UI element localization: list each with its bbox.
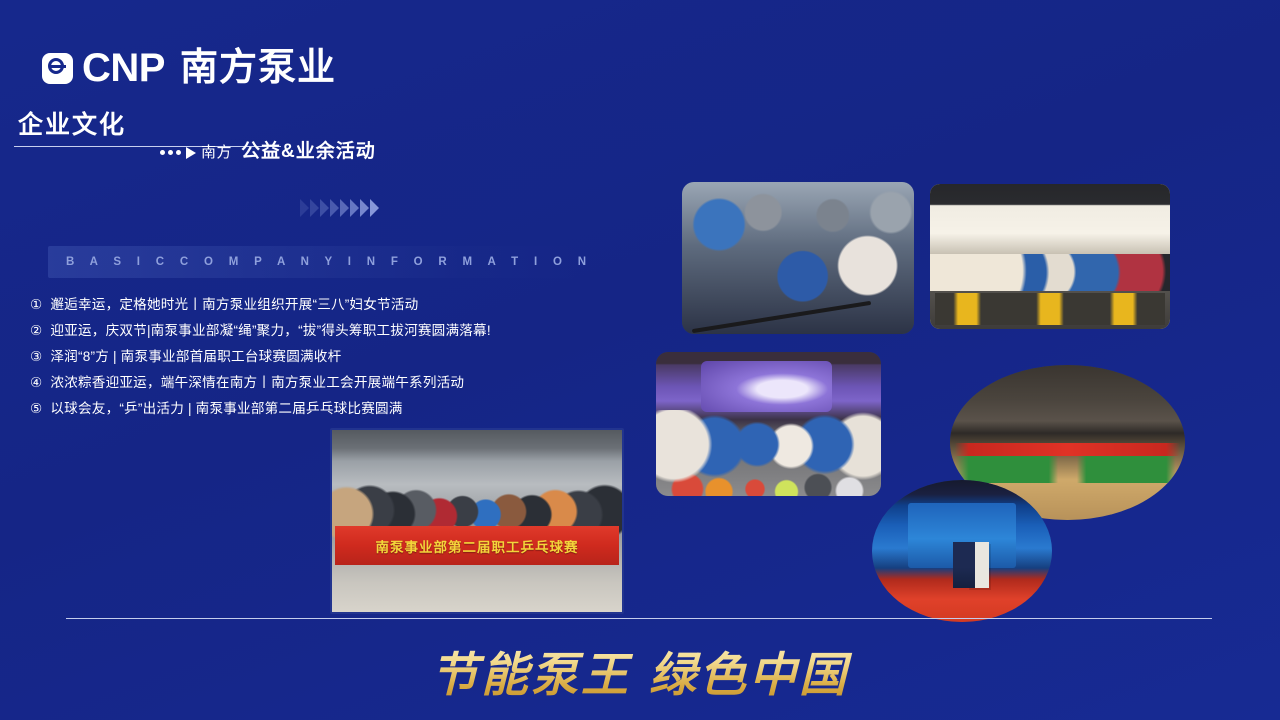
list-item-label: 以球会友，“乒”出活力 | 南泵事业部第二届乒乓球比赛圆满 <box>50 396 402 422</box>
photo-banner: 南泵事业部第二届职工乒乓球赛 <box>335 526 619 564</box>
subtitle-main: 公益&业余活动 <box>241 136 376 163</box>
footer-slogan-right: 绿色中国 <box>649 648 849 703</box>
list-item-label: 邂逅幸运，定格她时光丨南方泵业组织开展“三八”妇女节活动 <box>50 292 418 318</box>
photo-award-ceremony <box>872 480 1052 622</box>
footer-divider <box>66 618 1212 619</box>
list-item-marker: ③ <box>30 344 42 370</box>
header-block: 企业文化 南方 公益&业余活动 <box>14 112 634 147</box>
photo-image <box>656 352 881 496</box>
photo-food-activity <box>930 184 1170 329</box>
list-item-label: 泽润“8”方 | 南泵事业部首届职工台球赛圆满收杆 <box>50 344 341 370</box>
list-item-label: 浓浓粽香迎亚运，端午深情在南方丨南方泵业工会开展端午系列活动 <box>50 370 464 396</box>
list-item-marker: ⑤ <box>30 396 42 422</box>
section-label: B A S I C C O M P A N Y I N F O R M A T … <box>48 256 592 268</box>
footer-slogan: 节能泵王绿色中国 <box>0 636 1280 705</box>
cnp-pump-logo-icon <box>42 53 73 84</box>
list-item-label: 迎亚运，庆双节|南泵事业部凝“绳”聚力，“拔”得头筹职工拔河赛圆满落幕! <box>50 318 490 344</box>
list-item-marker: ① <box>30 292 42 318</box>
photo-image <box>930 184 1170 329</box>
photo-image <box>682 182 914 334</box>
footer-slogan-left: 节能泵王 <box>431 648 631 703</box>
list-item: ① 邂逅幸运，定格她时光丨南方泵业组织开展“三八”妇女节活动 <box>30 292 630 318</box>
section-band: B A S I C C O M P A N Y I N F O R M A T … <box>48 246 578 278</box>
photo-image <box>872 480 1052 622</box>
list-item: ③ 泽润“8”方 | 南泵事业部首届职工台球赛圆满收杆 <box>30 344 630 370</box>
photo-table-tennis: 南泵事业部第二届职工乒乓球赛 <box>330 428 624 614</box>
list-item-marker: ④ <box>30 370 42 396</box>
photo-tug-of-war <box>682 182 914 334</box>
list-item: ⑤ 以球会友，“乒”出活力 | 南泵事业部第二届乒乓球比赛圆满 <box>30 396 630 422</box>
subtitle-row: 南方 公益&业余活动 <box>160 136 376 163</box>
photo-banner-text: 南泵事业部第二届职工乒乓球赛 <box>375 536 578 556</box>
slide-root: CNP 南方泵业 企业文化 南方 公益&业余活动 B A S I C C O M… <box>0 0 1280 720</box>
list-item: ② 迎亚运，庆双节|南泵事业部凝“绳”聚力，“拔”得头筹职工拔河赛圆满落幕! <box>30 318 630 344</box>
brand-logo: CNP 南方泵业 <box>42 48 336 88</box>
dots-arrow-icon <box>160 147 196 159</box>
brand-name-cn: 南方泵业 <box>180 49 336 87</box>
chevron-right-icon <box>300 199 379 217</box>
brand-abbr: CNP <box>82 48 165 88</box>
subtitle-small: 南方 <box>201 141 232 162</box>
photo-party-balloons <box>656 352 881 496</box>
list-item-marker: ② <box>30 318 42 344</box>
list-item: ④ 浓浓粽香迎亚运，端午深情在南方丨南方泵业工会开展端午系列活动 <box>30 370 630 396</box>
activity-list: ① 邂逅幸运，定格她时光丨南方泵业组织开展“三八”妇女节活动 ② 迎亚运，庆双节… <box>30 292 630 422</box>
